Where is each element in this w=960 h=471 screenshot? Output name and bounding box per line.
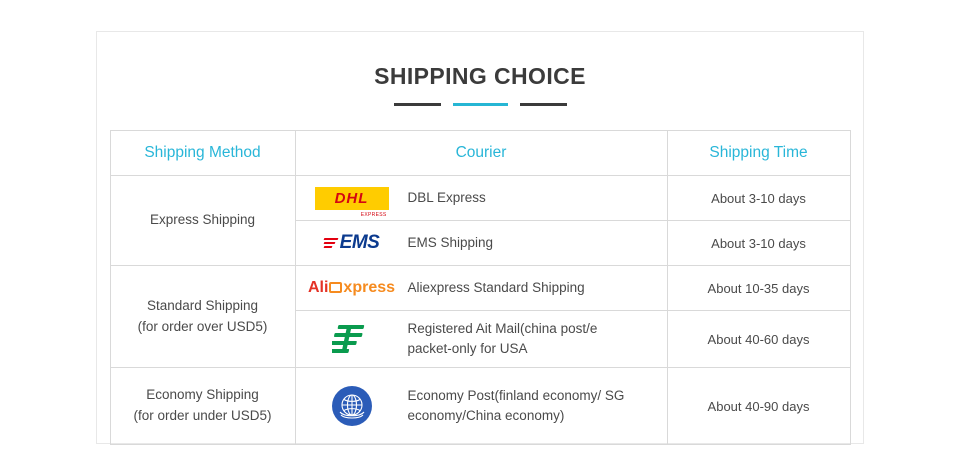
shipping-card: SHIPPING CHOICE Shipping Method Courier …: [96, 31, 864, 444]
courier-cell-economy-post: Economy Post(finland economy/ SG economy…: [295, 368, 667, 445]
aliexpress-logo-subtext: xpress: [343, 279, 395, 297]
un-globe-logo: [296, 386, 408, 426]
method-label: Standard Shipping: [111, 296, 295, 317]
table-row: Express Shipping DHL EXPRESS DBL Express: [110, 176, 850, 221]
shopping-cart-icon: [329, 282, 342, 293]
globe-icon: [332, 386, 372, 426]
title-underline: [97, 103, 863, 106]
page-title: SHIPPING CHOICE: [97, 63, 863, 90]
china-post-icon: [332, 323, 372, 355]
courier-label: Economy Post(finland economy/ SG economy…: [408, 386, 644, 427]
table-row: Standard Shipping (for order over USD5) …: [110, 266, 850, 311]
courier-cell-ems: EMS EMS Shipping: [295, 221, 667, 266]
column-header-time: Shipping Time: [667, 131, 850, 176]
column-header-courier: Courier: [295, 131, 667, 176]
aliexpress-logo-text: Ali: [308, 279, 328, 297]
shipping-table: Shipping Method Courier Shipping Time Ex…: [110, 130, 851, 445]
time-cell: About 40-90 days: [667, 368, 850, 445]
ems-logo-text: EMS: [340, 232, 380, 254]
method-sublabel: (for order over USD5): [111, 317, 295, 338]
courier-cell-china-post: Registered Ait Mail(china post/e packet-…: [295, 311, 667, 368]
dhl-logo: DHL EXPRESS: [296, 187, 408, 210]
table-header-row: Shipping Method Courier Shipping Time: [110, 131, 850, 176]
courier-cell-aliexpress: Ali xpress Aliexpress Standard Shipping: [295, 266, 667, 311]
ems-logo: EMS: [296, 232, 408, 254]
underline-center: [453, 103, 508, 106]
underline-left: [394, 103, 441, 106]
method-cell-economy: Economy Shipping (for order under USD5): [110, 368, 295, 445]
time-cell: About 3-10 days: [667, 221, 850, 266]
dhl-logo-subtext: EXPRESS: [361, 212, 387, 218]
underline-right: [520, 103, 567, 106]
ems-speed-lines-icon: [324, 238, 338, 248]
method-cell-express: Express Shipping: [110, 176, 295, 266]
time-cell: About 40-60 days: [667, 311, 850, 368]
courier-label: DBL Express: [408, 188, 494, 208]
aliexpress-logo: Ali xpress: [296, 279, 408, 297]
page-root: SHIPPING CHOICE Shipping Method Courier …: [0, 0, 960, 471]
column-header-method: Shipping Method: [110, 131, 295, 176]
courier-label: Registered Ait Mail(china post/e packet-…: [408, 319, 636, 360]
method-cell-standard: Standard Shipping (for order over USD5): [110, 266, 295, 368]
time-cell: About 10-35 days: [667, 266, 850, 311]
method-label: Economy Shipping: [111, 385, 295, 406]
china-post-logo: [296, 323, 408, 355]
dhl-logo-text: DHL: [335, 190, 369, 207]
method-label: Express Shipping: [111, 210, 295, 231]
courier-cell-dhl: DHL EXPRESS DBL Express: [295, 176, 667, 221]
courier-label: EMS Shipping: [408, 233, 502, 253]
courier-label: Aliexpress Standard Shipping: [408, 278, 593, 298]
method-sublabel: (for order under USD5): [111, 406, 295, 427]
table-row: Economy Shipping (for order under USD5): [110, 368, 850, 445]
time-cell: About 3-10 days: [667, 176, 850, 221]
